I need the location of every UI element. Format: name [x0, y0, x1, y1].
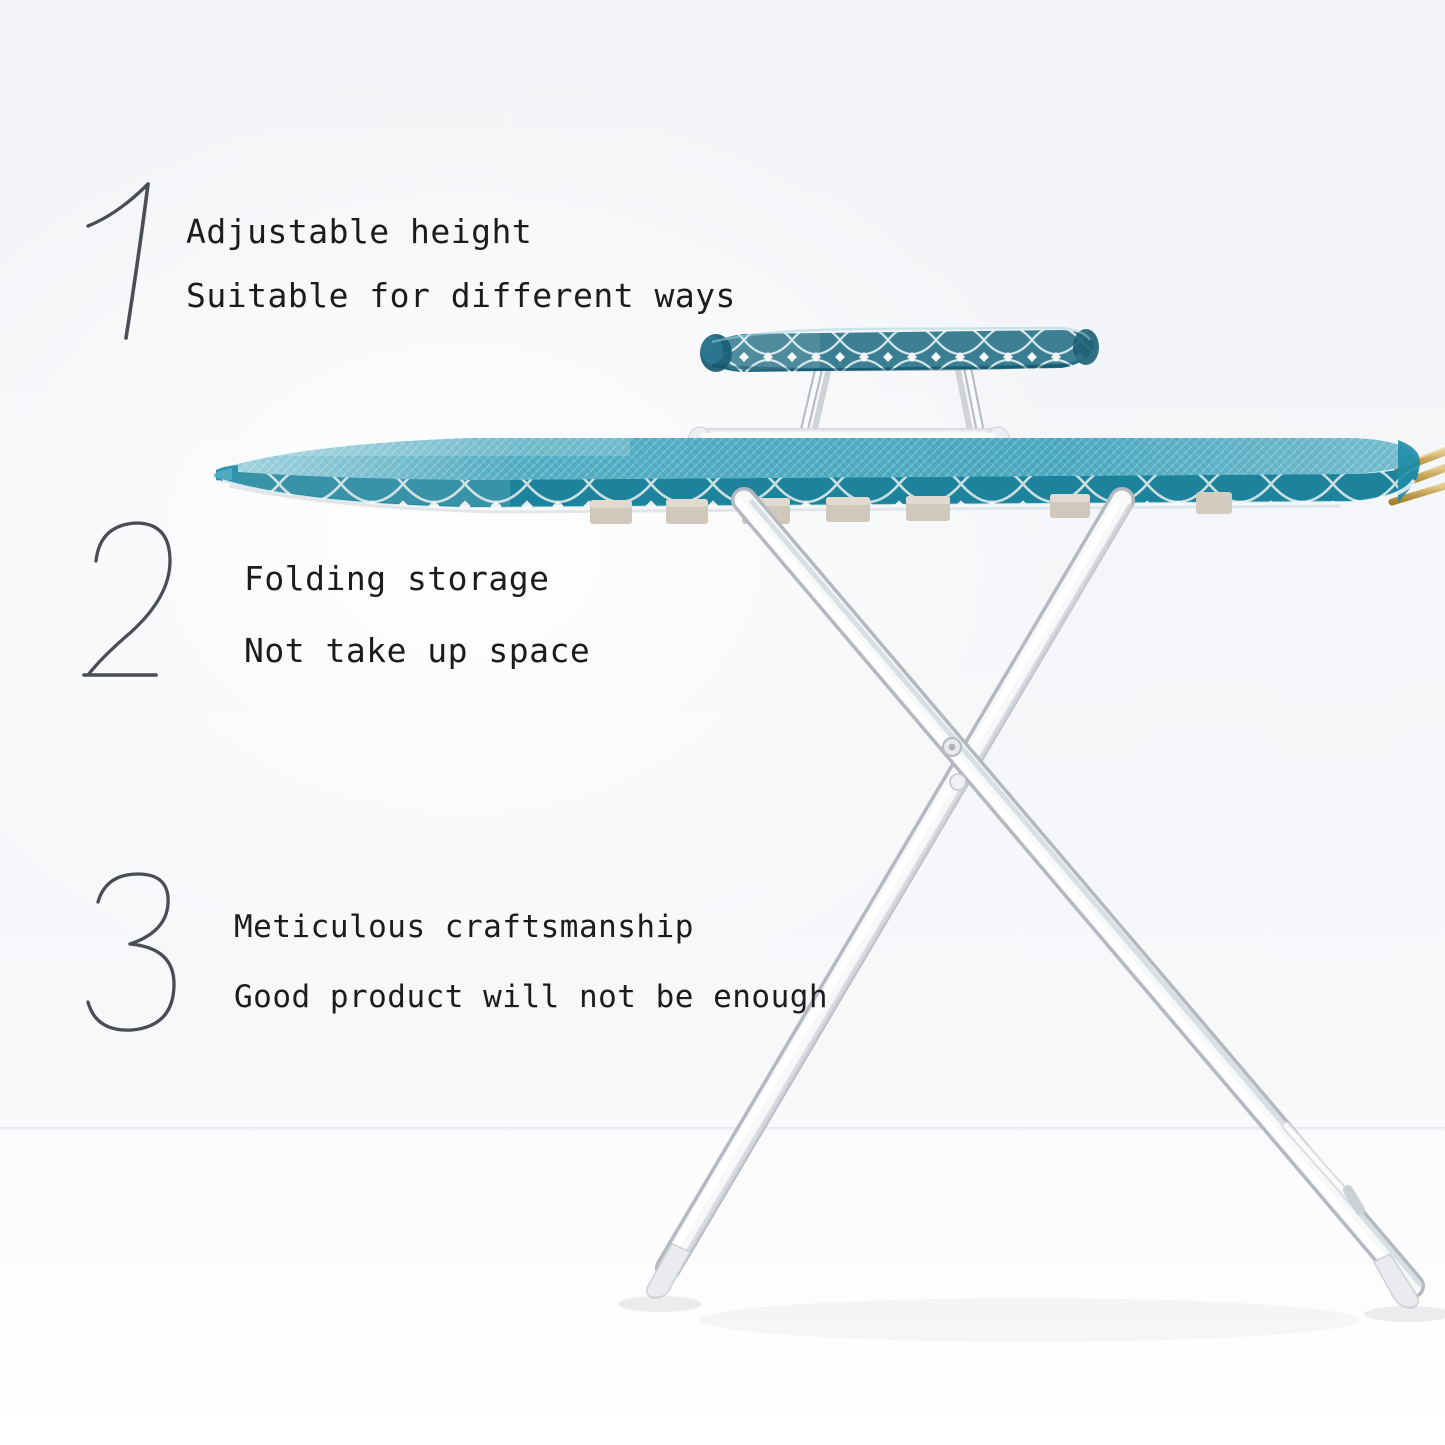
feature-1-line-1: Adjustable height	[186, 200, 736, 264]
feature-number-3-icon	[82, 868, 182, 1038]
main-board	[210, 430, 1425, 512]
infographic-canvas: Adjustable height Suitable for different…	[0, 0, 1445, 1445]
feature-3-text: Meticulous craftsmanship Good product wi…	[234, 868, 828, 1032]
feature-2-text: Folding storage Not take up space	[244, 515, 590, 687]
feature-1-text: Adjustable height Suitable for different…	[186, 178, 736, 328]
feature-2-line-1: Folding storage	[244, 543, 590, 615]
x-frame-leg-left	[740, 500, 1420, 1288]
sleeve-board	[700, 326, 1100, 374]
feature-item-2: Folding storage Not take up space	[82, 515, 590, 687]
feature-2-line-2: Not take up space	[244, 615, 590, 687]
feature-3-line-1: Meticulous craftsmanship	[234, 892, 828, 962]
feature-3-line-2: Good product will not be enough	[234, 962, 828, 1032]
feature-item-3: Meticulous craftsmanship Good product wi…	[82, 868, 828, 1038]
feature-item-1: Adjustable height Suitable for different…	[82, 178, 736, 343]
feature-1-line-2: Suitable for different ways	[186, 264, 736, 328]
feature-number-1-icon	[82, 178, 168, 343]
feature-number-2-icon	[82, 515, 182, 685]
foot-cap-left	[647, 1244, 690, 1298]
